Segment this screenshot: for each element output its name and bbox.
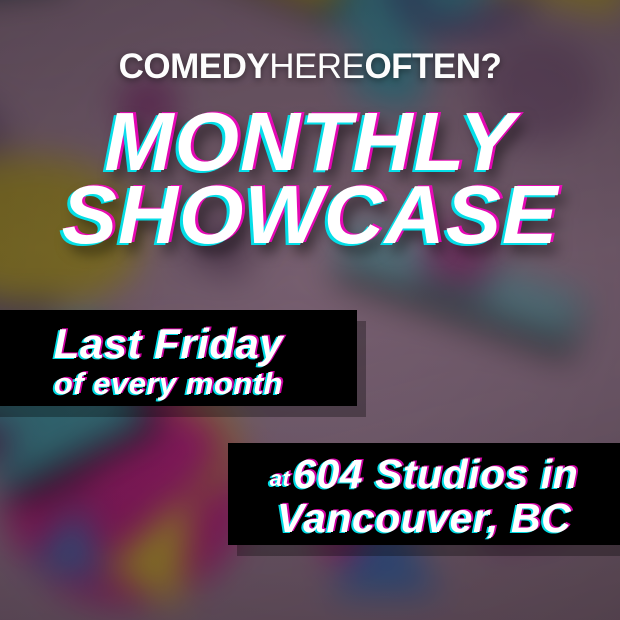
promotional-poster: COMEDYHEREOFTEN? MONTHLY SHOWCASE Last F… (0, 0, 620, 620)
venue-plaque: at604 Studios in Vancouver, BC (228, 443, 620, 545)
headline-line-showcase: SHOWCASE (0, 173, 620, 256)
venue-primary-text: at604 Studios in (228, 454, 620, 495)
date-primary-text: Last Friday (0, 323, 347, 365)
date-secondary-text: of every month (0, 368, 347, 399)
venue-at-prefix: at (270, 466, 291, 491)
poster-content: COMEDYHEREOFTEN? MONTHLY SHOWCASE Last F… (0, 0, 620, 620)
brand-kicker-comedy: COMEDY (119, 47, 270, 86)
venue-address-text: 604 Studios in (293, 451, 578, 497)
brand-kicker-often: OFTEN? (364, 47, 501, 86)
brand-kicker-here: HERE (269, 47, 364, 86)
brand-kicker: COMEDYHEREOFTEN? (0, 49, 620, 84)
venue-city-text: Vancouver, BC (228, 498, 620, 539)
date-plaque: Last Friday of every month (0, 310, 357, 406)
